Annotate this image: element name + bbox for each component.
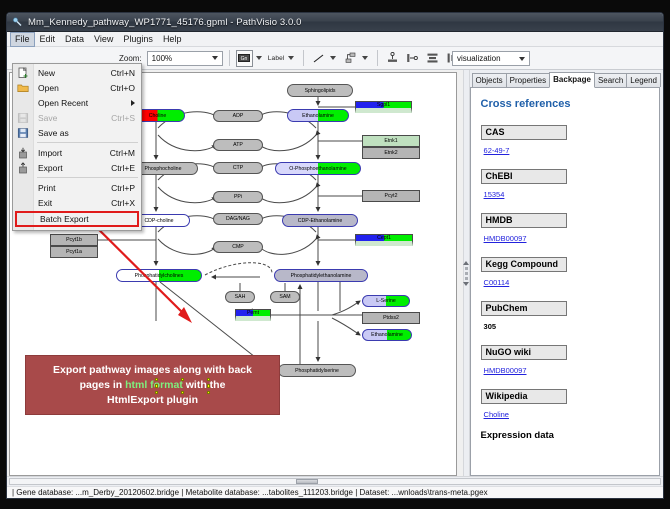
- xref-entry: CAS62-49-7: [481, 122, 649, 158]
- panel-splitter[interactable]: [463, 70, 470, 476]
- pathway-node-label: Phosphatidylserine: [295, 368, 339, 374]
- pathway-node-label: DAG/NAG: [226, 216, 250, 222]
- menu-plugins[interactable]: Plugins: [118, 32, 158, 47]
- pathway-node-label: PPi: [234, 194, 242, 200]
- xref-source-label: Wikipedia: [481, 389, 567, 404]
- canvas-horizontal-scrollbar[interactable]: [7, 477, 663, 486]
- import-icon: [17, 147, 29, 159]
- expression-data-heading: Expression data: [481, 430, 649, 441]
- pathway-metabolite-node[interactable]: CDP-Ethanolamine: [282, 214, 358, 227]
- splitter-grip: [465, 267, 468, 270]
- pathvisio-window: Mm_Kennedy_pathway_WP1771_45176.gpml - P…: [6, 12, 664, 499]
- menu-data[interactable]: Data: [60, 32, 89, 47]
- pathway-metabolite-node[interactable]: CMP: [213, 241, 263, 253]
- save-as-icon: [17, 127, 29, 139]
- menu-item-shortcut: Ctrl+N: [111, 68, 141, 78]
- pathway-node-label: Etnk1: [384, 138, 397, 144]
- interaction-tool-icon[interactable]: [342, 50, 359, 67]
- pathway-gene-node[interactable]: Etnk2: [362, 147, 420, 159]
- menu-item-shortcut: Ctrl+S: [111, 113, 141, 123]
- xref-entry: WikipediaCholine: [481, 386, 649, 422]
- pathway-node-label: ADP: [233, 113, 244, 119]
- pathway-node-label: CMP: [232, 244, 244, 250]
- xref-source-label: CAS: [481, 125, 567, 140]
- pathway-node-label: Pemt: [247, 310, 259, 316]
- xref-entry: HMDBHMDB00097: [481, 210, 649, 246]
- window-title: Mm_Kennedy_pathway_WP1771_45176.gpml - P…: [28, 17, 302, 28]
- selection-handle[interactable]: [181, 378, 185, 382]
- menu-item-open[interactable]: OpenCtrl+O: [13, 80, 141, 95]
- menu-item-label: Export: [38, 163, 111, 173]
- pathway-node-label: CDP-Ethanolamine: [298, 218, 342, 224]
- menu-item-shortcut: Ctrl+O: [110, 83, 141, 93]
- menu-item-label: Import: [38, 148, 110, 158]
- xref-entry: PubChem305: [481, 298, 649, 334]
- menu-item-print[interactable]: PrintCtrl+P: [13, 180, 141, 195]
- menu-item-shortcut: Ctrl+P: [111, 183, 141, 193]
- menu-item-new[interactable]: NewCtrl+N: [13, 65, 141, 80]
- menu-item-label: New: [38, 68, 111, 78]
- toolbar-separator: [377, 50, 378, 66]
- selection-handle[interactable]: [181, 391, 185, 395]
- cross-references-list: CAS62-49-7ChEBI15354HMDBHMDB00097Kegg Co…: [481, 122, 649, 422]
- xref-source-label: Kegg Compound: [481, 257, 567, 272]
- xref-link[interactable]: 15354: [484, 190, 505, 199]
- pathway-gene-node[interactable]: Sgpl1: [355, 101, 412, 113]
- xref-entry: ChEBI15354: [481, 166, 649, 202]
- splitter-grip: [465, 277, 468, 280]
- datanode-tool-icon[interactable]: Gn: [236, 50, 253, 67]
- pathway-node-label: Cept1: [377, 235, 391, 241]
- callout-line-2-pre: pages in: [80, 379, 126, 391]
- tab-backpage[interactable]: Backpage: [549, 72, 595, 88]
- pathway-node-label: Ptdss2: [383, 315, 399, 321]
- label-tool-label: Label: [266, 54, 287, 63]
- callout-line-2: pages in html format with the: [80, 378, 226, 393]
- zoom-combobox[interactable]: 100%: [147, 51, 223, 66]
- pathway-metabolite-node[interactable]: SAH: [225, 291, 255, 303]
- menu-item-save: SaveCtrl+S: [13, 110, 141, 125]
- cross-references-heading: Cross references: [481, 98, 649, 110]
- side-panel: Objects Properties Backpage Search Legen…: [470, 70, 663, 476]
- xref-entry: Kegg CompoundC00114: [481, 254, 649, 290]
- chevron-right-icon: [131, 100, 135, 106]
- xref-source-label: HMDB: [481, 213, 567, 228]
- chevron-down-icon: [212, 56, 218, 60]
- callout-line-1: Export pathway images along with back: [53, 363, 252, 378]
- xref-link[interactable]: 62-49-7: [484, 146, 510, 155]
- side-panel-tabs: Objects Properties Backpage Search Legen…: [470, 72, 660, 88]
- xref-source-label: PubChem: [481, 301, 567, 316]
- splitter-collapse-down-icon[interactable]: [463, 282, 469, 286]
- menu-item-exit[interactable]: ExitCtrl+X: [13, 195, 141, 210]
- pathway-metabolite-node[interactable]: Phosphatidylcholines: [116, 269, 202, 282]
- pathway-node-label: Sgpl1: [377, 102, 390, 108]
- tab-objects[interactable]: Objects: [472, 73, 507, 87]
- pathway-gene-node[interactable]: Cept1: [355, 234, 413, 246]
- menu-item-label: Save: [38, 113, 111, 123]
- annotation-callout: Export pathway images along with back pa…: [25, 355, 280, 415]
- menu-item-batch-export[interactable]: Batch Export: [15, 211, 139, 227]
- visualization-value: visualization: [457, 54, 501, 63]
- label-dropdown-icon[interactable]: [288, 56, 294, 60]
- align-left-icon[interactable]: [404, 50, 421, 67]
- status-text-row: | Gene database: ...m_Derby_20120602.bri…: [7, 486, 663, 498]
- visualization-combobox[interactable]: visualization: [452, 51, 530, 66]
- selection-handle[interactable]: [155, 384, 159, 388]
- pathway-node-label: Pcyt1b: [66, 237, 82, 243]
- pathway-node-label: ATP: [233, 142, 243, 148]
- pathvisio-icon: [12, 17, 23, 28]
- zoom-label: Zoom:: [119, 54, 142, 63]
- toolbar-separator: [303, 50, 304, 66]
- menu-separator: [37, 142, 138, 143]
- menu-item-label: Save as: [38, 128, 141, 138]
- xref-entry: NuGO wikiHMDB00097: [481, 342, 649, 378]
- menu-item-save-as[interactable]: Save as: [13, 125, 141, 140]
- pathway-metabolite-node[interactable]: Phosphatidylethanolamine: [274, 269, 368, 282]
- tab-legend[interactable]: Legend: [626, 73, 661, 87]
- menubar: File Edit Data View Plugins Help: [7, 32, 663, 47]
- menu-separator: [37, 177, 138, 178]
- menu-item-shortcut: Ctrl+E: [111, 163, 141, 173]
- export-icon: [17, 162, 29, 174]
- pathway-gene-node[interactable]: Pcyt2: [362, 190, 420, 202]
- pathway-metabolite-node[interactable]: Ethanolamine: [287, 109, 349, 122]
- line-dropdown-icon[interactable]: [330, 56, 336, 60]
- pathway-node-label: CDP-choline: [144, 218, 173, 224]
- save-disk-icon: [17, 112, 29, 124]
- xref-source-label: NuGO wiki: [481, 345, 567, 360]
- pathway-gene-node[interactable]: Pemt: [235, 309, 271, 321]
- pathway-node-label: L-Serine: [376, 298, 396, 304]
- menu-item-shortcut: Ctrl+M: [110, 148, 141, 158]
- callout-line-3: HtmlExport plugin: [107, 393, 198, 408]
- xref-value: 305: [484, 322, 497, 331]
- window-titlebar: Mm_Kennedy_pathway_WP1771_45176.gpml - P…: [7, 13, 663, 32]
- new-file-icon: [17, 67, 29, 79]
- pathway-node-label: Ethanolamine: [302, 113, 334, 119]
- statusbar: | Gene database: ...m_Derby_20120602.bri…: [7, 476, 663, 498]
- file-menu-dropdown[interactable]: NewCtrl+NOpenCtrl+OOpen RecentSaveCtrl+S…: [12, 63, 142, 231]
- pathway-gene-node[interactable]: Etnk1: [362, 135, 420, 147]
- pathway-metabolite-node[interactable]: ATP: [213, 139, 263, 151]
- pathway-node-label: CTP: [233, 165, 243, 171]
- pathway-gene-node[interactable]: Pcyt1a: [50, 246, 98, 258]
- pathway-gene-node[interactable]: Ptdss2: [362, 312, 420, 324]
- pathway-node-label: Phosphatidylcholines: [135, 273, 184, 279]
- pathway-node-label: Pcyt1a: [66, 249, 82, 255]
- menu-help[interactable]: Help: [158, 32, 187, 47]
- xref-link[interactable]: HMDB00097: [484, 234, 527, 243]
- menu-view[interactable]: View: [89, 32, 118, 47]
- menu-item-import[interactable]: ImportCtrl+M: [13, 145, 141, 160]
- scrollbar-track[interactable]: [9, 478, 661, 485]
- pathway-node-label: O-Phosphoethanolamine: [289, 166, 346, 172]
- pathway-node-label: Pcyt2: [385, 193, 398, 199]
- selection-handle[interactable]: [207, 378, 211, 382]
- datanode-dropdown-icon[interactable]: [256, 56, 262, 60]
- pathway-metabolite-node[interactable]: SAM: [270, 291, 300, 303]
- toolbar-separator: [229, 50, 230, 66]
- tab-properties[interactable]: Properties: [506, 73, 550, 87]
- xref-link[interactable]: HMDB00097: [484, 366, 527, 375]
- open-folder-icon: [17, 82, 29, 94]
- chevron-down-icon: [519, 57, 525, 61]
- menu-item-label: Open Recent: [38, 98, 131, 108]
- backpage-content: Cross references CAS62-49-7ChEBI15354HMD…: [470, 88, 660, 476]
- menu-file[interactable]: File: [10, 32, 35, 47]
- pathway-gene-node[interactable]: Pcyt1b: [50, 234, 98, 246]
- pathway-metabolite-node[interactable]: DAG/NAG: [213, 213, 263, 225]
- menu-item-export[interactable]: ExportCtrl+E: [13, 160, 141, 175]
- pathway-node-label: Phosphatidylethanolamine: [291, 273, 352, 279]
- status-text: | Gene database: ...m_Derby_20120602.bri…: [12, 488, 488, 497]
- pathway-metabolite-node[interactable]: Sphingolipids: [287, 84, 353, 97]
- menu-edit[interactable]: Edit: [35, 32, 61, 47]
- line-tool-icon[interactable]: [310, 50, 327, 67]
- splitter-collapse-up-icon[interactable]: [463, 261, 469, 265]
- splitter-grip: [465, 272, 468, 275]
- menu-item-open-recent[interactable]: Open Recent: [13, 95, 141, 110]
- pathway-node-label: Ethanolamine: [371, 332, 403, 338]
- callout-line-2-post: with the: [183, 379, 226, 391]
- xref-source-label: ChEBI: [481, 169, 567, 184]
- interaction-dropdown-icon[interactable]: [362, 56, 368, 60]
- xref-link[interactable]: Choline: [484, 410, 509, 419]
- pathway-metabolite-node[interactable]: L-Serine: [362, 295, 410, 307]
- pathway-metabolite-node[interactable]: PPi: [213, 191, 263, 203]
- pathway-node-label: Sphingolipids: [305, 88, 336, 94]
- tab-search[interactable]: Search: [594, 73, 627, 87]
- file-menu-items: NewCtrl+NOpenCtrl+OOpen RecentSaveCtrl+S…: [13, 65, 141, 227]
- selection-handle[interactable]: [207, 391, 211, 395]
- pathway-node-label: Phosphocholine: [145, 166, 182, 172]
- selection-handle[interactable]: [155, 391, 159, 395]
- menu-item-label: Batch Export: [40, 214, 137, 224]
- menu-item-shortcut: Ctrl+X: [111, 198, 141, 208]
- distribute-vertical-icon[interactable]: [424, 50, 441, 67]
- pathway-metabolite-node[interactable]: Phosphatidylserine: [278, 364, 356, 377]
- menu-item-label: Open: [38, 83, 110, 93]
- pathway-node-label: Choline: [149, 113, 167, 119]
- align-top-icon[interactable]: [384, 50, 401, 67]
- xref-link[interactable]: C00114: [484, 278, 510, 287]
- zoom-value: 100%: [152, 54, 172, 63]
- pathway-node-label: SAM: [279, 294, 290, 300]
- pathway-metabolite-node[interactable]: Ethanolamine: [362, 329, 412, 341]
- desktop-background: Mm_Kennedy_pathway_WP1771_45176.gpml - P…: [0, 0, 670, 509]
- pathway-node-label: SAH: [235, 294, 246, 300]
- selection-handle[interactable]: [155, 378, 159, 382]
- menu-item-label: Exit: [38, 198, 111, 208]
- scrollbar-thumb[interactable]: [296, 479, 318, 484]
- menu-item-label: Print: [38, 183, 111, 193]
- label-tool-icon[interactable]: Label: [268, 50, 285, 67]
- pathway-metabolite-node[interactable]: ADP: [213, 110, 263, 122]
- svg-text:Gn: Gn: [241, 56, 248, 62]
- pathway-metabolite-node[interactable]: CTP: [213, 162, 263, 174]
- pathway-metabolite-node[interactable]: O-Phosphoethanolamine: [275, 162, 361, 175]
- pathway-node-label: Etnk2: [384, 150, 397, 156]
- selection-handle[interactable]: [207, 384, 211, 388]
